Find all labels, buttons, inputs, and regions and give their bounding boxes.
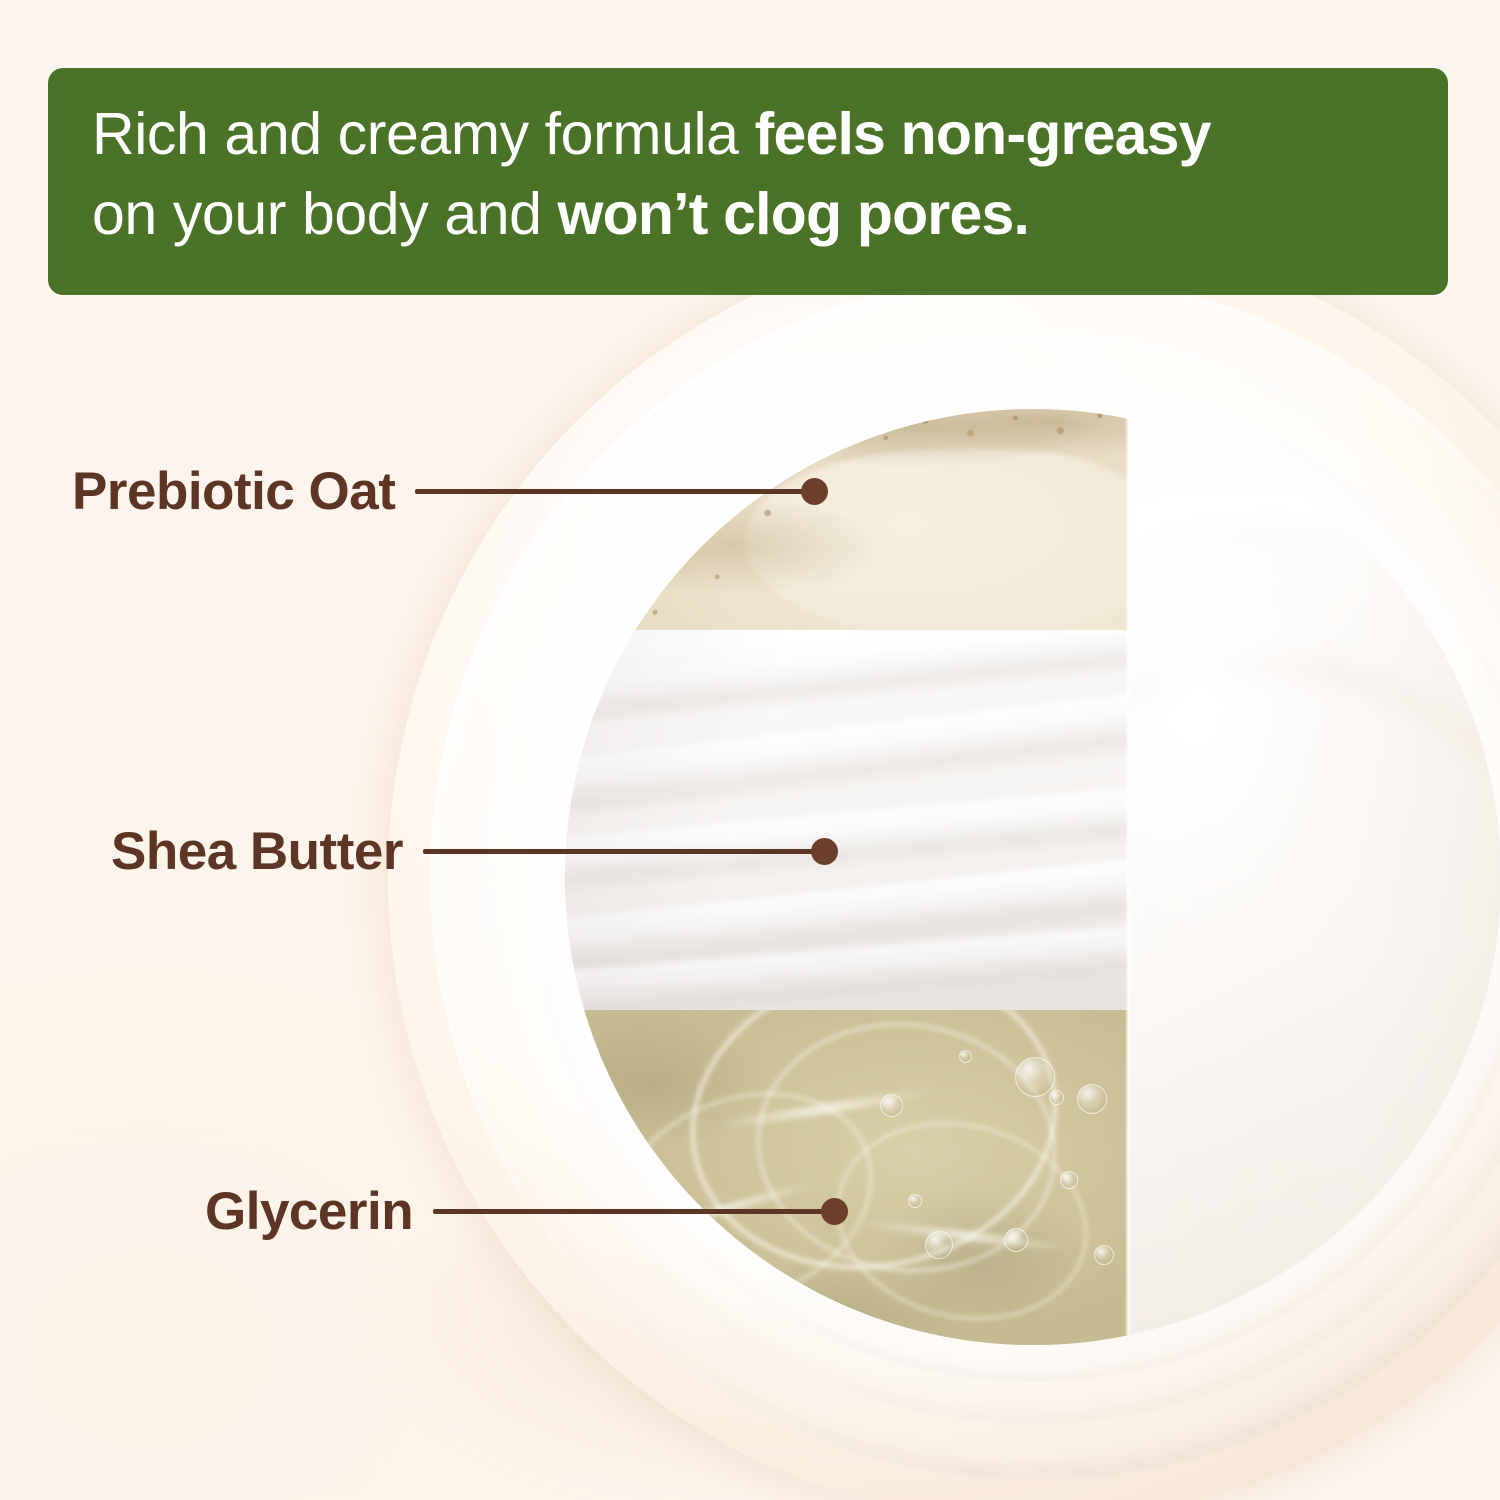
callout-label-prebiotic-oat: Prebiotic Oat [72, 465, 395, 518]
swatch-divider [1125, 409, 1131, 1345]
glycerin-bubble [880, 1094, 903, 1117]
callout-dot [801, 478, 828, 505]
callout-label-glycerin: Glycerin [205, 1185, 413, 1238]
infographic-canvas: Rich and creamy formula feels non-greasy… [0, 0, 1500, 1500]
callout-leader-line [433, 1209, 823, 1214]
glycerin-bubble [1077, 1084, 1107, 1114]
callout-prebiotic-oat: Prebiotic Oat [72, 471, 828, 511]
callout-leader-line [415, 489, 803, 494]
finished-cream-swatch [1128, 409, 1500, 1345]
glycerin-bubble [1004, 1228, 1028, 1252]
claim-line2-regular: on your body and [92, 181, 558, 247]
claim-banner: Rich and creamy formula feels non-greasy… [48, 68, 1448, 295]
claim-line1-bold: feels non-greasy [755, 101, 1211, 167]
claim-line2-bold: won’t clog pores. [558, 181, 1030, 247]
callout-dot [821, 1198, 848, 1225]
claim-banner-line-1: Rich and creamy formula feels non-greasy [92, 94, 1408, 174]
oat-grain-speckles [565, 409, 1128, 630]
cream-shading [1128, 409, 1500, 1345]
swatch-shea-butter [565, 630, 1128, 1010]
swatch-prebiotic-oat [565, 409, 1128, 630]
callout-label-shea-butter: Shea Butter [111, 825, 403, 878]
callout-shea-butter: Shea Butter [111, 831, 838, 871]
shea-shading [565, 630, 1128, 1010]
claim-banner-line-2: on your body and won’t clog pores. [92, 174, 1408, 254]
callout-dot [811, 838, 838, 865]
callout-glycerin: Glycerin [205, 1191, 848, 1231]
swatch-glycerin [565, 1010, 1128, 1345]
glycerin-bubble [1094, 1245, 1114, 1265]
claim-line1-regular: Rich and creamy formula [92, 101, 755, 167]
callout-leader-line [423, 849, 813, 854]
